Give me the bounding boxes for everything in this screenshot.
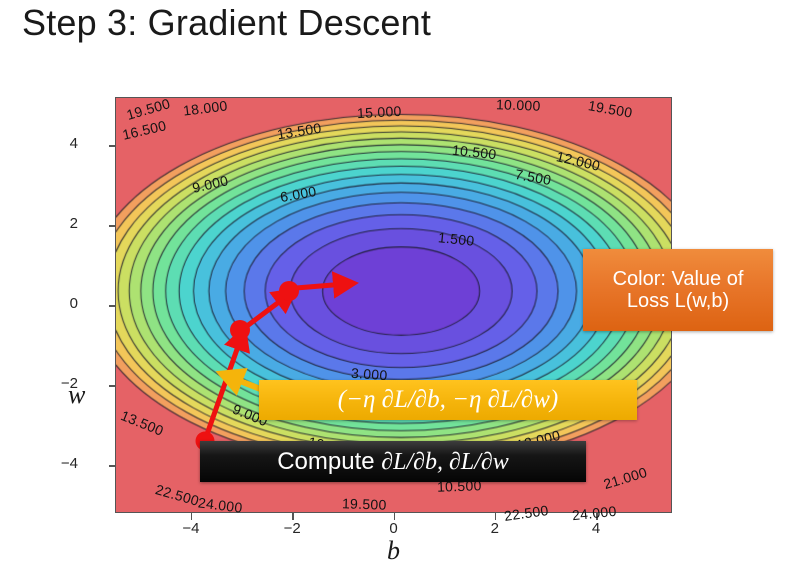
y-tick-label: 2: [70, 215, 78, 232]
x-axis-label: b: [387, 536, 400, 566]
y-tick-mark: [109, 225, 116, 227]
x-tick-label: −2: [284, 520, 301, 537]
callout-update-step: (−η ∂L/∂b, −η ∂L/∂w): [259, 380, 637, 420]
x-tick-mark: [394, 513, 396, 520]
callout-color-legend: Color: Value of Loss L(w,b): [583, 249, 773, 331]
y-tick-mark: [109, 145, 116, 147]
callout-color-line2: Loss L(w,b): [613, 290, 744, 312]
callout-color-line1: Color: Value of: [613, 268, 744, 290]
y-tick-label: −2: [61, 375, 78, 392]
y-tick-label: 0: [70, 295, 78, 312]
callout-eta-text: (−η ∂L/∂b, −η ∂L/∂w): [338, 386, 558, 414]
x-tick-label: 2: [491, 520, 499, 537]
slide-root: Step 3: Gradient Descent w b 420−2−4 −4−…: [0, 0, 792, 570]
callout-compute-gradients: Compute ∂L/∂b, ∂L/∂w: [200, 441, 586, 482]
y-tick-label: −4: [61, 455, 78, 472]
x-tick-mark: [596, 513, 598, 520]
x-tick-mark: [495, 513, 497, 520]
x-tick-label: 4: [592, 520, 600, 537]
page-title: Step 3: Gradient Descent: [22, 2, 431, 44]
y-tick-mark: [109, 385, 116, 387]
y-tick-mark: [109, 305, 116, 307]
x-tick-label: −4: [182, 520, 199, 537]
x-tick-label: 0: [389, 520, 397, 537]
y-tick-label: 4: [70, 135, 78, 152]
callout-compute-math: ∂L/∂b, ∂L/∂w: [381, 449, 508, 475]
callout-compute-prefix: Compute: [277, 448, 381, 475]
x-tick-mark: [191, 513, 193, 520]
y-tick-mark: [109, 465, 116, 467]
x-tick-mark: [292, 513, 294, 520]
